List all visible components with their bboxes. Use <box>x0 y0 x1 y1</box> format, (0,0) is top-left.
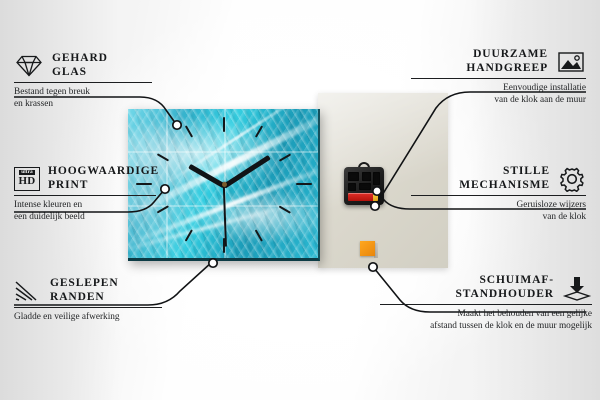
callout-title-line1: GEHARD <box>52 52 108 66</box>
callout-title-line2: PRINT <box>48 179 159 193</box>
callout-schuimaf-standhouder: SCHUIMAF- STANDHOUDER Maakt het behouden… <box>364 274 592 332</box>
gear-icon <box>558 166 586 192</box>
callout-title-line1: GESLEPEN <box>50 277 119 291</box>
movement-battery <box>348 193 378 201</box>
callout-rule <box>411 195 586 196</box>
callout-desc-line2: van de klok <box>411 212 586 223</box>
infographic-canvas: GEHARD GLAS Bestand tegen breuk en krass… <box>0 0 600 400</box>
callout-hoogwaardige-print: ultra HD HOOGWAARDIGE PRINT Intense kleu… <box>14 165 179 223</box>
diamond-icon <box>14 54 44 78</box>
callout-desc-line2: en krassen <box>14 99 174 110</box>
callout-desc-line2: van de klok aan de muur <box>411 95 586 106</box>
callout-title-line2: STANDHOUDER <box>455 288 554 302</box>
callout-rule <box>411 78 586 79</box>
press-down-icon <box>562 275 592 301</box>
callout-desc-line1: Eenvoudige installatie <box>411 83 586 94</box>
callout-title-line1: HOOGWAARDIGE <box>48 165 159 179</box>
callout-title-line2: GLAS <box>52 66 108 80</box>
callout-duurzame-handgreep: DUURZAME HANDGREEP Eenvoudige installati… <box>411 48 586 106</box>
callout-rule <box>14 195 156 196</box>
diagonal-lines-icon <box>14 279 42 303</box>
callout-desc-line1: Maakt het behouden van een gelijke <box>364 309 592 320</box>
battery-positive-terminal <box>373 193 378 201</box>
picture-frame-icon <box>556 50 586 74</box>
foam-spacer <box>360 241 378 258</box>
callout-rule <box>14 82 152 83</box>
clock-center-hub <box>222 182 227 187</box>
callout-title-line1: STILLE <box>459 165 550 179</box>
callout-stille-mechanisme: STILLE MECHANISME Geruisloze wijzers van… <box>411 165 586 223</box>
callout-title-line2: HANDGREEP <box>466 62 548 76</box>
callout-title-line2: MECHANISME <box>459 179 550 193</box>
ultra-hd-icon: ultra HD <box>14 167 40 191</box>
callout-desc-line2: afstand tussen de klok en de muur mogeli… <box>364 321 592 332</box>
hd-icon-text-bottom: HD <box>18 176 35 187</box>
callout-desc-line2: een duidelijk beeld <box>14 212 179 223</box>
callout-desc-line1: Bestand tegen breuk <box>14 87 174 98</box>
clock-movement <box>344 167 384 205</box>
callout-rule <box>380 304 592 305</box>
callout-gehard-glas: GEHARD GLAS Bestand tegen breuk en krass… <box>14 52 174 110</box>
callout-desc-line1: Gladde en veilige afwerking <box>14 312 184 323</box>
callout-geslepen-randen: GESLEPEN RANDEN Gladde en veilige afwerk… <box>14 277 184 324</box>
callout-title-line1: DUURZAME <box>466 48 548 62</box>
callout-title-line1: SCHUIMAF- <box>455 274 554 288</box>
callout-title-line2: RANDEN <box>50 291 119 305</box>
foam-spacer-top <box>360 241 375 256</box>
callout-desc-line1: Intense kleuren en <box>14 200 179 211</box>
callout-rule <box>14 307 162 308</box>
callout-desc-line1: Geruisloze wijzers <box>411 200 586 211</box>
movement-body <box>344 167 384 205</box>
